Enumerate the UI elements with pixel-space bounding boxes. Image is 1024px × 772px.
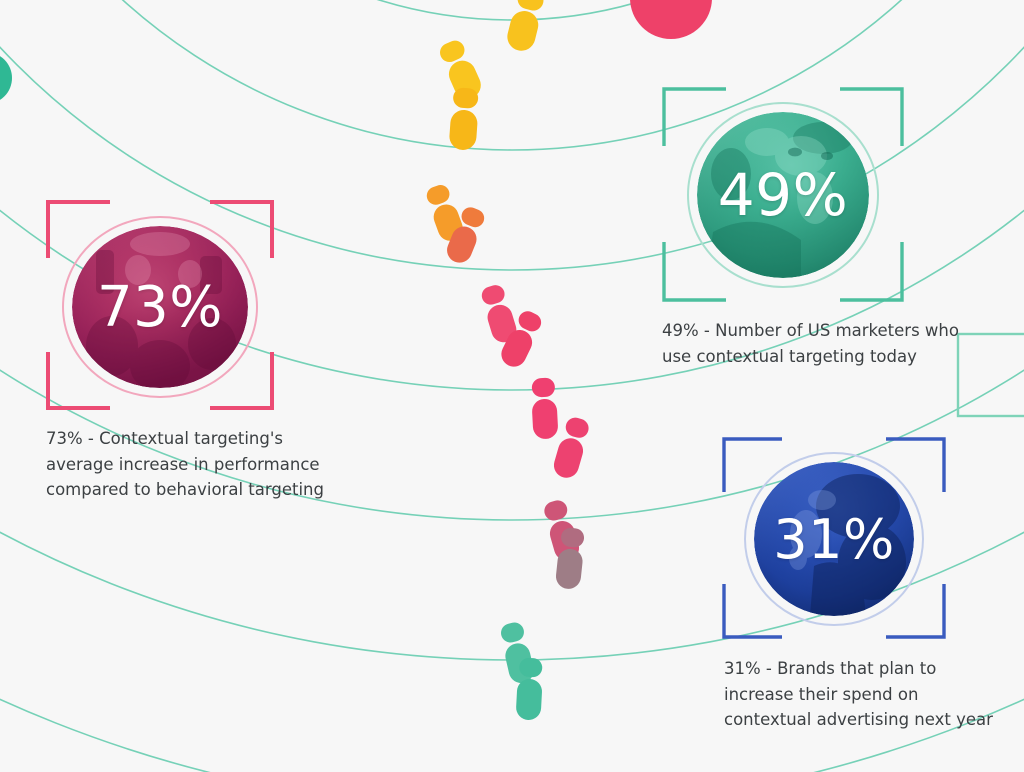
badge-73[interactable]: 73%: [72, 226, 248, 388]
badge-value-49: 49%: [697, 112, 869, 278]
pink-accent-circle: [630, 0, 712, 39]
caption-49: 49% - Number of US marketers who use con…: [662, 318, 982, 369]
badge-value-31: 31%: [754, 462, 914, 616]
stat-block-49: 49%: [658, 84, 908, 306]
caption-31: 31% - Brands that plan to increase their…: [724, 656, 1024, 733]
badge-31[interactable]: 31%: [754, 462, 914, 616]
infographic-canvas: 73% 73% - Contextual targeting's average…: [0, 0, 1024, 772]
caption-73: 73% - Contextual targeting's average inc…: [46, 426, 376, 503]
stat-block-73: 73%: [40, 196, 280, 416]
footprint-trail: [423, 0, 592, 721]
badge-49[interactable]: 49%: [697, 112, 869, 278]
stat-block-31: 31%: [718, 434, 950, 642]
badge-value-73: 73%: [72, 226, 248, 388]
teal-accent-circle: [0, 52, 12, 104]
